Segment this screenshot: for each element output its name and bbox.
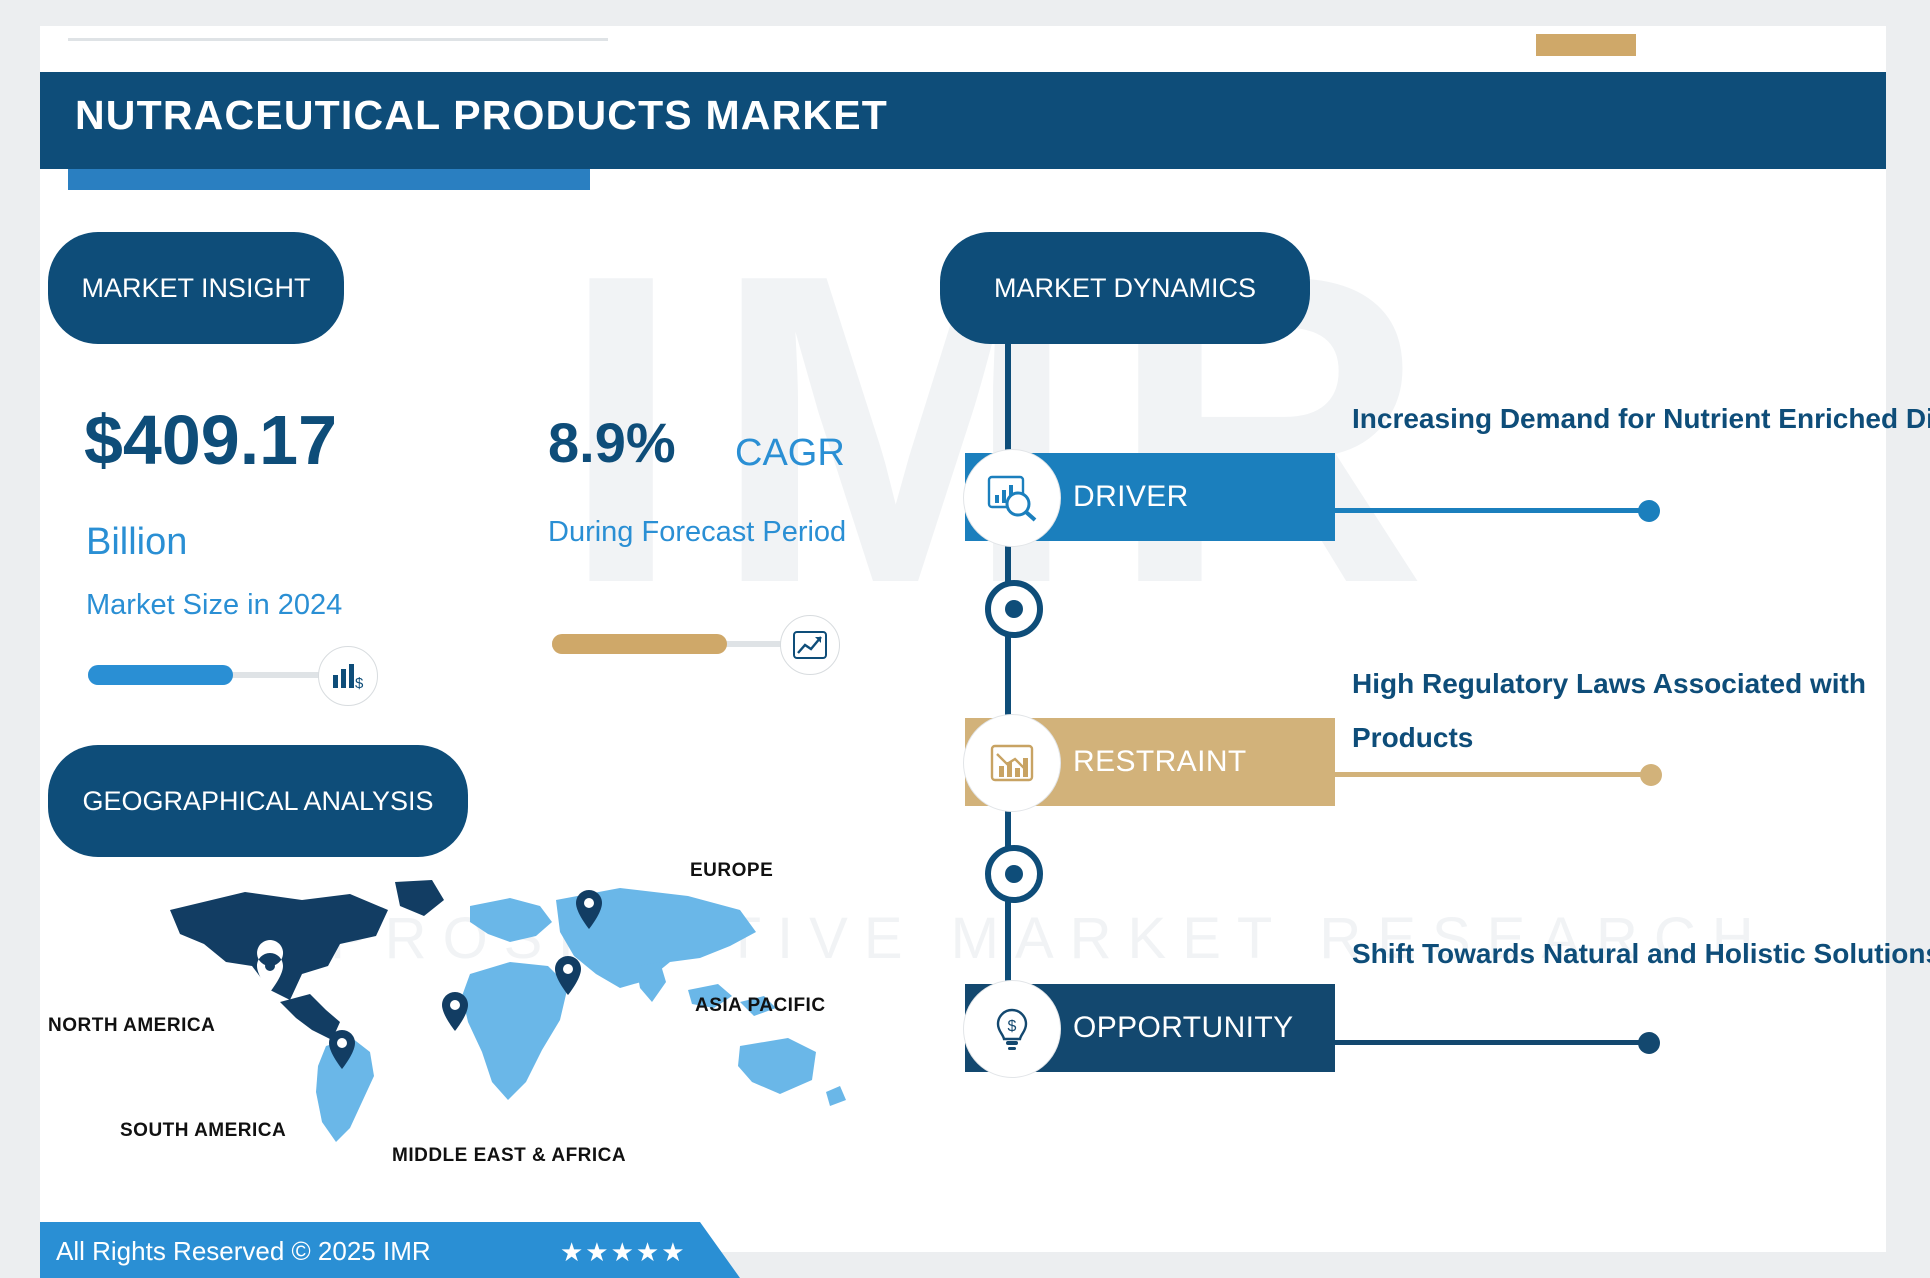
footer-copyright: All Rights Reserved © 2025 IMR bbox=[56, 1236, 431, 1267]
svg-text:$: $ bbox=[1008, 1018, 1017, 1035]
dynamics-tag-driver[interactable]: DRIVER bbox=[965, 453, 1335, 541]
dynamics-endpoint-driver bbox=[1638, 500, 1660, 522]
map-label-europe: EUROPE bbox=[690, 860, 773, 882]
dynamics-connector-driver bbox=[1332, 508, 1652, 513]
dynamics-text-restraint: High Regulatory Laws Associated with Pro… bbox=[1352, 657, 1930, 765]
svg-text:$: $ bbox=[355, 675, 364, 691]
map-label-south-america: SOUTH AMERICA bbox=[120, 1120, 286, 1142]
dynamics-tag-restraint-label: RESTRAINT bbox=[1073, 745, 1247, 779]
growth-chart-icon bbox=[780, 615, 840, 675]
lightbulb-dollar-icon: $ bbox=[963, 980, 1061, 1078]
section-pill-market-dynamics-label: MARKET DYNAMICS bbox=[994, 271, 1256, 305]
dynamics-endpoint-opportunity bbox=[1638, 1032, 1660, 1054]
cagr-label: CAGR bbox=[735, 432, 845, 475]
cagr-caption: During Forecast Period bbox=[548, 502, 878, 562]
cagr-value: 8.9% bbox=[548, 410, 676, 475]
dynamics-connector-restraint bbox=[1332, 772, 1652, 777]
dynamics-tag-opportunity-label: OPPORTUNITY bbox=[1073, 1011, 1294, 1045]
section-pill-market-insight-label: MARKET INSIGHT bbox=[81, 271, 310, 305]
page-title: NUTRACEUTICAL PRODUCTS MARKET bbox=[75, 92, 888, 139]
footer-rating-stars: ★★★★★ bbox=[560, 1237, 687, 1268]
dynamics-text-opportunity: Shift Towards Natural and Holistic Solut… bbox=[1352, 927, 1930, 981]
map-label-middle-east-africa: MIDDLE EAST & AFRICA bbox=[392, 1145, 626, 1167]
declining-chart-icon bbox=[963, 714, 1061, 812]
market-size-unit: Billion bbox=[86, 521, 187, 564]
header-accent-block bbox=[1536, 34, 1636, 56]
market-size-value: $409.17 bbox=[84, 400, 337, 480]
dynamics-tag-driver-label: DRIVER bbox=[1073, 480, 1189, 514]
analysis-magnifier-icon bbox=[963, 449, 1061, 547]
section-pill-geographical-label: GEOGRAPHICAL ANALYSIS bbox=[82, 784, 433, 818]
section-pill-market-insight: MARKET INSIGHT bbox=[48, 232, 344, 344]
map-label-north-america: NORTH AMERICA bbox=[48, 1015, 215, 1037]
market-size-caption: Market Size in 2024 bbox=[86, 589, 342, 622]
header-rule bbox=[68, 38, 608, 41]
market-size-connector-fill bbox=[88, 665, 233, 685]
dynamics-tag-restraint[interactable]: RESTRAINT bbox=[965, 718, 1335, 806]
world-map: NORTH AMERICA SOUTH AMERICA EUROPE ASIA … bbox=[40, 870, 870, 1170]
dynamics-node-2 bbox=[985, 845, 1043, 903]
section-pill-market-dynamics: MARKET DYNAMICS bbox=[940, 232, 1310, 344]
header-shadow-bar bbox=[68, 168, 590, 190]
dynamics-connector-opportunity bbox=[1332, 1040, 1652, 1045]
map-label-asia-pacific: ASIA PACIFIC bbox=[695, 995, 826, 1017]
dynamics-node-1 bbox=[985, 580, 1043, 638]
dynamics-text-driver: Increasing Demand for Nutrient Enriched … bbox=[1352, 392, 1930, 446]
bar-chart-dollar-icon: $ bbox=[318, 646, 378, 706]
infographic-canvas: IMR PROSPECTIVE MARKET RESEARCH NUTRACEU… bbox=[0, 0, 1930, 1278]
dynamics-endpoint-restraint bbox=[1640, 764, 1662, 786]
section-pill-geographical-analysis: GEOGRAPHICAL ANALYSIS bbox=[48, 745, 468, 857]
dynamics-tag-opportunity[interactable]: $ OPPORTUNITY bbox=[965, 984, 1335, 1072]
cagr-connector-fill bbox=[552, 634, 727, 654]
